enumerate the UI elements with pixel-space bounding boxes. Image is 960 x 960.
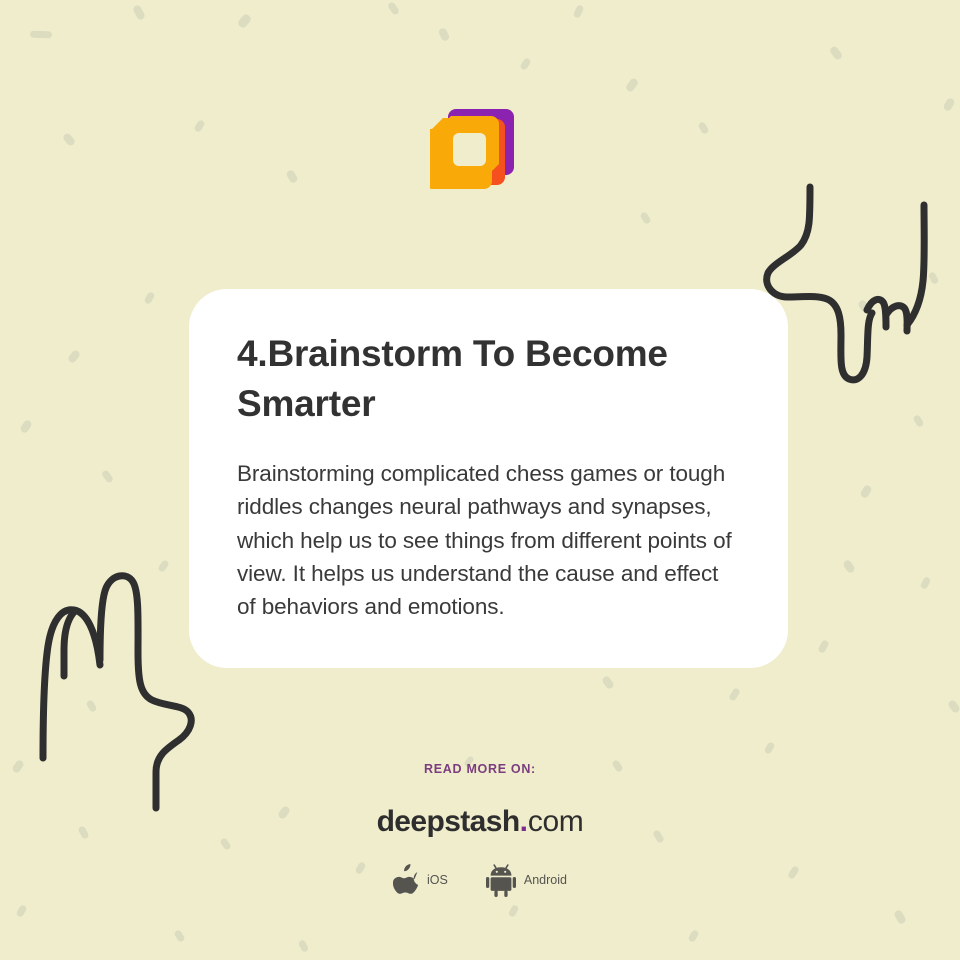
- speckle-dash: [387, 1, 400, 16]
- speckle-dash: [728, 687, 741, 702]
- pointing-hand-up-illustration: [22, 560, 212, 785]
- speckle-dash: [132, 4, 146, 21]
- speckle-dash: [85, 699, 97, 713]
- speckle-dash: [763, 741, 775, 755]
- speckle-dash: [237, 13, 253, 30]
- wordmark-tld: com: [528, 805, 583, 838]
- social-card-canvas: 4.Brainstorm To Become Smarter Brainstor…: [0, 0, 960, 960]
- speckle-dash: [829, 45, 844, 61]
- speckle-dash: [15, 904, 27, 918]
- footer: READ MORE ON: deepstash.com iOS: [0, 762, 960, 897]
- speckle-dash: [859, 484, 872, 499]
- speckle-dash: [285, 169, 298, 184]
- apple-icon: [393, 864, 419, 896]
- speckle-dash: [625, 77, 640, 93]
- ios-store-badge[interactable]: iOS: [393, 864, 448, 896]
- speckle-dash: [19, 419, 33, 434]
- ios-store-label: iOS: [427, 873, 448, 887]
- speckle-dash: [942, 97, 955, 112]
- deepstash-stacked-squares-logo: [430, 105, 520, 197]
- speckle-dash: [893, 909, 907, 925]
- speckle-dash: [857, 299, 871, 314]
- speckle-dash: [573, 4, 585, 19]
- deepstash-wordmark[interactable]: deepstash.com: [0, 807, 960, 837]
- speckle-dash: [67, 349, 81, 364]
- speckle-dash: [912, 414, 924, 428]
- wordmark-dot: .: [520, 805, 528, 838]
- android-store-badge[interactable]: Android: [486, 863, 567, 897]
- speckle-dash: [928, 271, 940, 285]
- card-title: 4.Brainstorm To Become Smarter: [237, 329, 740, 429]
- content-card: 4.Brainstorm To Become Smarter Brainstor…: [189, 289, 788, 668]
- app-store-badges: iOS: [0, 863, 960, 897]
- speckle-dash: [157, 559, 170, 573]
- speckle-dash: [62, 132, 76, 147]
- wordmark-name: deepstash: [377, 805, 520, 838]
- card-body-text: Brainstorming complicated chess games or…: [237, 457, 740, 623]
- speckle-dash: [601, 675, 615, 690]
- speckle-dash: [101, 469, 114, 484]
- read-more-label: READ MORE ON:: [0, 762, 960, 776]
- android-icon: [486, 863, 516, 897]
- speckle-dash: [193, 119, 205, 133]
- speckle-dash: [438, 27, 451, 42]
- speckle-dash: [697, 121, 709, 135]
- speckle-dash: [639, 211, 651, 225]
- speckle-dash: [508, 904, 520, 918]
- speckle-dash: [687, 929, 699, 943]
- speckle-dash: [842, 559, 856, 574]
- speckle-dash: [298, 939, 310, 953]
- speckle-dash: [947, 699, 960, 714]
- speckle-dash: [817, 639, 829, 654]
- speckle-dash: [30, 31, 52, 39]
- speckle-dash: [920, 576, 932, 590]
- android-store-label: Android: [524, 873, 567, 887]
- speckle-dash: [519, 57, 532, 71]
- speckle-dash: [173, 929, 185, 943]
- speckle-dash: [143, 291, 155, 305]
